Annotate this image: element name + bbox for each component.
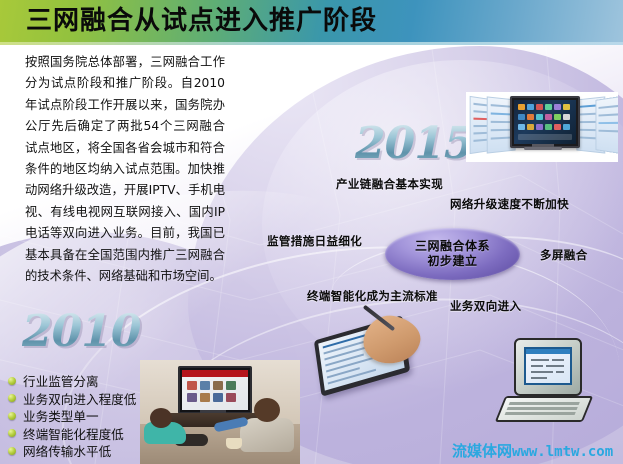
image-smart-tv bbox=[466, 92, 618, 162]
bullet-dot-icon bbox=[8, 412, 16, 420]
slide-canvas: 三网融合从试点进入推广阶段 按照国务院总体部署，三网融合工作分为试点阶段和推广阶… bbox=[0, 0, 623, 464]
callout-label-terminal: 终端智能化成为主流标准 bbox=[307, 288, 438, 304]
bullet-dot-icon bbox=[8, 429, 16, 437]
list-item: 终端智能化程度低 bbox=[8, 425, 198, 443]
callout-label-multiscreen: 多屏融合 bbox=[540, 247, 588, 263]
list-item: 行业监管分离 bbox=[8, 372, 198, 390]
list-item: 业务双向进入程度低 bbox=[8, 390, 198, 408]
monitor bbox=[514, 338, 582, 396]
image-tablet-stylus bbox=[312, 312, 432, 390]
tv-base bbox=[524, 147, 562, 150]
header-bar: 三网融合从试点进入推广阶段 bbox=[0, 0, 623, 42]
year-label-2015: 2015 bbox=[355, 118, 473, 169]
bullet-dot-icon bbox=[8, 377, 16, 385]
person-right-head bbox=[254, 398, 280, 422]
bullet-list-2010: 行业监管分离 业务双向进入程度低 业务类型单一 终端智能化程度低 网络传输水平低 bbox=[8, 372, 198, 460]
tv-fan-screen-right-2 bbox=[596, 96, 618, 154]
center-node-line2: 初步建立 bbox=[427, 254, 477, 268]
list-item: 业务类型单一 bbox=[8, 407, 198, 425]
keyboard bbox=[495, 396, 594, 422]
bullet-dot-icon bbox=[8, 394, 16, 402]
watermark: 流媒体网www.lmtw.com bbox=[452, 440, 613, 461]
callout-label-regulation: 监管措施日益细化 bbox=[267, 233, 362, 249]
header-underline bbox=[0, 42, 623, 45]
bullet-dot-icon bbox=[8, 447, 16, 455]
tv-set bbox=[510, 96, 580, 148]
bullet-label: 网络传输水平低 bbox=[23, 441, 111, 460]
callout-label-business: 业务双向进入 bbox=[450, 298, 521, 314]
list-item: 网络传输水平低 bbox=[8, 442, 198, 460]
bullet-label: 业务类型单一 bbox=[23, 406, 99, 425]
tv-screen bbox=[514, 100, 576, 144]
center-node-line1: 三网融合体系 bbox=[415, 239, 490, 253]
year-label-2010: 2010 bbox=[22, 306, 140, 357]
intro-paragraph: 按照国务院总体部署，三网融合工作分为试点阶段和推广阶段。自2010年试点阶段工作… bbox=[25, 52, 225, 287]
image-desktop-computer bbox=[500, 338, 604, 428]
bullet-label: 业务双向进入程度低 bbox=[23, 389, 136, 408]
watermark-brand: 流媒体网 bbox=[452, 442, 512, 460]
bullet-label: 终端智能化程度低 bbox=[23, 424, 124, 443]
person-right-shirt bbox=[240, 418, 294, 452]
callout-label-network-speed: 网络升级速度不断加快 bbox=[450, 196, 569, 212]
watermark-url: www.lmtw.com bbox=[512, 444, 613, 460]
bullet-label: 行业监管分离 bbox=[23, 371, 99, 390]
popcorn-bowl bbox=[226, 438, 242, 449]
callout-label-chain: 产业链融合基本实现 bbox=[336, 176, 443, 192]
person-right bbox=[236, 398, 298, 456]
monitor-screen bbox=[524, 347, 572, 385]
page-title: 三网融合从试点进入推广阶段 bbox=[26, 4, 377, 38]
center-node-ellipse: 三网融合体系 初步建立 bbox=[385, 228, 520, 280]
center-node-label: 三网融合体系 初步建立 bbox=[415, 239, 490, 269]
monitor-screen-titlebar bbox=[526, 349, 570, 354]
